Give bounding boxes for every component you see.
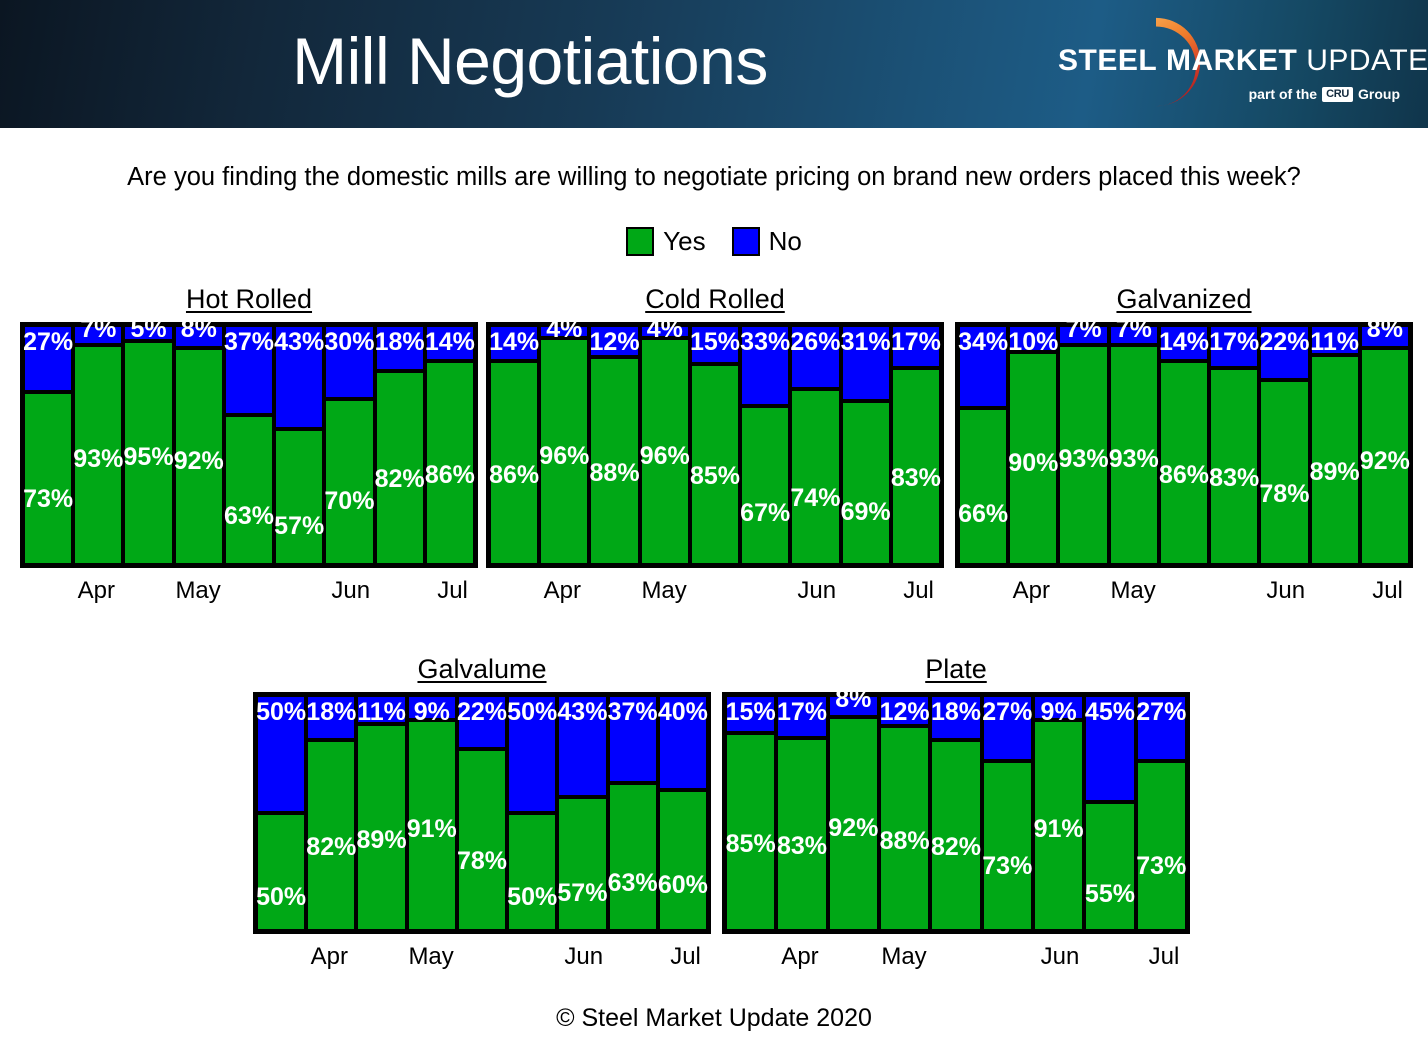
- bar-cold-rolled-1[interactable]: 14%86%: [489, 325, 539, 565]
- plot-area-galvalume: 50%50%18%82%11%89%9%91%22%78%50%50%43%57…: [253, 692, 711, 934]
- segment-yes: 85%: [725, 733, 776, 931]
- segment-no: 9%: [1033, 695, 1084, 720]
- x-tick-galvalume-may: May: [408, 942, 453, 972]
- x-tick-plate-jul: Jul: [1149, 942, 1180, 972]
- x-tick-galvalume-jul: Jul: [670, 942, 701, 972]
- segment-yes-label: 92%: [1360, 448, 1410, 474]
- segment-no-label: 40%: [658, 699, 708, 725]
- bar-galvanized-1[interactable]: 34%66%: [958, 325, 1008, 565]
- chart-panel-plate: Plate15%85%17%83%8%92%12%88%18%82%27%73%…: [722, 692, 1190, 934]
- segment-no: 9%: [407, 695, 457, 720]
- segment-no-label: 50%: [256, 699, 306, 725]
- bar-plate-1[interactable]: 15%85%: [725, 695, 776, 931]
- logo-word-market: MARKET: [1166, 44, 1297, 77]
- bar-hot-rolled-8[interactable]: 18%82%: [375, 325, 425, 565]
- segment-yes-label: 50%: [507, 884, 557, 910]
- segment-no: 27%: [1136, 695, 1187, 761]
- x-axis-plate: AprMayJunJul: [722, 942, 1190, 972]
- segment-no: 11%: [356, 695, 406, 724]
- segment-yes-label: 93%: [1059, 446, 1109, 472]
- segment-no: 27%: [982, 695, 1033, 761]
- segment-yes-label: 93%: [73, 446, 123, 472]
- segment-yes: 86%: [489, 361, 539, 565]
- header-banner: Mill Negotiations STEEL MARKET UPDATE pa…: [0, 0, 1428, 128]
- bar-galvalume-9[interactable]: 40%60%: [658, 695, 708, 931]
- bar-galvanized-9[interactable]: 8%92%: [1360, 325, 1410, 565]
- segment-no: 17%: [891, 325, 941, 368]
- bar-cold-rolled-3[interactable]: 12%88%: [589, 325, 639, 565]
- logo-word-update: UPDATE: [1306, 44, 1428, 77]
- segment-yes-label: 90%: [1008, 450, 1058, 476]
- bar-cold-rolled-9[interactable]: 17%83%: [891, 325, 941, 565]
- bar-galvalume-3[interactable]: 11%89%: [356, 695, 406, 931]
- panel-title-galvalume: Galvalume: [253, 654, 711, 685]
- segment-no-label: 12%: [880, 699, 930, 725]
- panel-title-hot-rolled: Hot Rolled: [20, 284, 478, 315]
- segment-yes: 89%: [1310, 355, 1360, 565]
- segment-yes-label: 63%: [608, 870, 658, 896]
- bar-galvanized-7[interactable]: 22%78%: [1259, 325, 1309, 565]
- segment-yes-label: 91%: [1034, 816, 1084, 842]
- legend-item-yes[interactable]: Yes: [626, 226, 705, 256]
- segment-no: 22%: [1259, 325, 1309, 380]
- segment-yes: 70%: [324, 399, 374, 565]
- segment-yes: 83%: [1209, 368, 1259, 565]
- x-tick-galvalume-apr: Apr: [311, 942, 348, 972]
- x-axis-hot-rolled: AprMayJunJul: [20, 576, 478, 606]
- segment-no: 45%: [1084, 695, 1135, 802]
- segment-no-label: 17%: [1209, 329, 1259, 355]
- segment-no-label: 17%: [777, 699, 827, 725]
- segment-yes: 73%: [1136, 761, 1187, 931]
- bar-cold-rolled-8[interactable]: 31%69%: [841, 325, 891, 565]
- segment-yes-label: 83%: [1209, 465, 1259, 491]
- segment-yes-label: 50%: [256, 884, 306, 910]
- bar-galvanized-6[interactable]: 17%83%: [1209, 325, 1259, 565]
- x-tick-cold-rolled-may: May: [641, 576, 686, 606]
- segment-yes-label: 86%: [425, 462, 475, 488]
- segment-yes-label: 82%: [306, 834, 356, 860]
- bar-hot-rolled-2[interactable]: 7%93%: [73, 325, 123, 565]
- question-text: Are you finding the domestic mills are w…: [0, 163, 1428, 192]
- segment-yes: 57%: [557, 797, 607, 931]
- segment-yes: 60%: [658, 790, 708, 931]
- segment-yes: 88%: [589, 357, 639, 565]
- segment-no-label: 8%: [1367, 316, 1403, 342]
- segment-no: 15%: [725, 695, 776, 733]
- segment-yes: 83%: [891, 368, 941, 565]
- segment-yes-label: 60%: [658, 872, 708, 898]
- x-tick-hot-rolled-jul: Jul: [437, 576, 468, 606]
- bar-cold-rolled-4[interactable]: 4%96%: [640, 325, 690, 565]
- logo-tagline-suffix: Group: [1358, 86, 1400, 102]
- segment-no: 8%: [1360, 325, 1410, 348]
- segment-yes: 96%: [640, 338, 690, 565]
- bar-galvalume-4[interactable]: 9%91%: [407, 695, 457, 931]
- segment-no-label: 27%: [982, 699, 1032, 725]
- x-axis-cold-rolled: AprMayJunJul: [486, 576, 944, 606]
- segment-no-label: 17%: [891, 329, 941, 355]
- copyright-text: © Steel Market Update 2020: [0, 1004, 1428, 1033]
- segment-yes-label: 93%: [1109, 446, 1159, 472]
- segment-no: 30%: [324, 325, 374, 399]
- segment-yes-label: 73%: [1136, 853, 1186, 879]
- bar-galvanized-4[interactable]: 7%93%: [1109, 325, 1159, 565]
- segment-no-label: 7%: [1116, 316, 1152, 342]
- segment-no-label: 15%: [690, 329, 740, 355]
- segment-no: 4%: [539, 325, 589, 338]
- segment-no-label: 14%: [1159, 329, 1209, 355]
- bar-hot-rolled-3[interactable]: 5%95%: [123, 325, 173, 565]
- segment-yes-label: 86%: [489, 462, 539, 488]
- segment-no-label: 8%: [835, 686, 871, 712]
- segment-no: 50%: [256, 695, 306, 813]
- segment-yes-label: 92%: [174, 448, 224, 474]
- segment-yes: 96%: [539, 338, 589, 565]
- x-tick-galvanized-jul: Jul: [1372, 576, 1403, 606]
- x-tick-hot-rolled-may: May: [175, 576, 220, 606]
- legend-swatch-yes: [626, 227, 654, 256]
- segment-yes-label: 57%: [557, 880, 607, 906]
- segment-yes: 78%: [1259, 380, 1309, 565]
- legend-swatch-no: [732, 227, 760, 256]
- segment-yes-label: 73%: [982, 853, 1032, 879]
- segment-yes: 92%: [828, 717, 879, 931]
- segment-no: 15%: [690, 325, 740, 364]
- segment-no: 33%: [740, 325, 790, 406]
- chart-panel-galvanized: Galvanized34%66%10%90%7%93%7%93%14%86%17…: [955, 322, 1413, 568]
- segment-yes: 82%: [930, 740, 981, 931]
- bar-galvanized-5[interactable]: 14%86%: [1159, 325, 1209, 565]
- segment-yes-label: 78%: [457, 848, 507, 874]
- page-title: Mill Negotiations: [0, 14, 1060, 108]
- segment-no-label: 37%: [224, 329, 274, 355]
- segment-no: 12%: [589, 325, 639, 357]
- segment-yes: 93%: [73, 345, 123, 565]
- segment-yes: 91%: [1033, 720, 1084, 931]
- x-tick-plate-may: May: [881, 942, 926, 972]
- segment-no: 18%: [375, 325, 425, 371]
- segment-yes-label: 86%: [1159, 462, 1209, 488]
- segment-no: 14%: [1159, 325, 1209, 361]
- bar-hot-rolled-1[interactable]: 27%73%: [23, 325, 73, 565]
- chart-panel-cold-rolled: Cold Rolled14%86%4%96%12%88%4%96%15%85%3…: [486, 322, 944, 568]
- segment-no: 43%: [557, 695, 607, 797]
- segment-yes-label: 73%: [23, 486, 73, 512]
- segment-no-label: 8%: [181, 316, 217, 342]
- x-tick-plate-jun: Jun: [1041, 942, 1080, 972]
- segment-no: 7%: [1058, 325, 1108, 345]
- segment-yes-label: 96%: [539, 443, 589, 469]
- segment-yes-label: 92%: [828, 815, 878, 841]
- cru-badge: CRU: [1322, 87, 1353, 102]
- bar-galvanized-8[interactable]: 11%89%: [1310, 325, 1360, 565]
- bar-galvalume-5[interactable]: 22%78%: [457, 695, 507, 931]
- segment-yes: 63%: [608, 783, 658, 931]
- segment-no: 5%: [123, 325, 173, 341]
- panel-title-cold-rolled: Cold Rolled: [486, 284, 944, 315]
- bar-plate-4[interactable]: 12%88%: [879, 695, 930, 931]
- x-tick-galvanized-apr: Apr: [1013, 576, 1050, 606]
- segment-no-label: 43%: [557, 699, 607, 725]
- segment-yes: 85%: [690, 364, 740, 565]
- segment-yes: 89%: [356, 724, 406, 931]
- segment-no: 50%: [507, 695, 557, 813]
- segment-yes-label: 83%: [891, 465, 941, 491]
- segment-no: 4%: [640, 325, 690, 338]
- segment-no-label: 22%: [457, 699, 507, 725]
- segment-yes-label: 55%: [1085, 881, 1135, 907]
- segment-no: 18%: [306, 695, 356, 740]
- segment-yes-label: 74%: [790, 485, 840, 511]
- logo-tagline-prefix: part of the: [1249, 86, 1317, 102]
- segment-yes-label: 89%: [1310, 459, 1360, 485]
- segment-no-label: 27%: [23, 329, 73, 355]
- plot-area-galvanized: 34%66%10%90%7%93%7%93%14%86%17%83%22%78%…: [955, 322, 1413, 568]
- bar-plate-9[interactable]: 27%73%: [1136, 695, 1187, 931]
- x-tick-cold-rolled-apr: Apr: [544, 576, 581, 606]
- bar-hot-rolled-7[interactable]: 30%70%: [324, 325, 374, 565]
- x-tick-plate-apr: Apr: [781, 942, 818, 972]
- segment-yes: 55%: [1084, 802, 1135, 931]
- segment-yes: 73%: [23, 392, 73, 565]
- segment-no: 14%: [425, 325, 475, 361]
- segment-no: 17%: [1209, 325, 1259, 368]
- bar-cold-rolled-6[interactable]: 33%67%: [740, 325, 790, 565]
- segment-no-label: 18%: [306, 699, 356, 725]
- segment-yes-label: 66%: [958, 501, 1008, 527]
- segment-no-label: 15%: [726, 699, 776, 725]
- legend-item-no[interactable]: No: [732, 226, 802, 256]
- chart-panel-galvalume: Galvalume50%50%18%82%11%89%9%91%22%78%50…: [253, 692, 711, 934]
- segment-yes-label: 57%: [274, 513, 324, 539]
- bar-galvalume-2[interactable]: 18%82%: [306, 695, 356, 931]
- segment-no: 27%: [23, 325, 73, 392]
- bar-plate-8[interactable]: 45%55%: [1084, 695, 1135, 931]
- bar-plate-2[interactable]: 17%83%: [776, 695, 827, 931]
- segment-yes: 50%: [507, 813, 557, 931]
- segment-no-label: 7%: [1065, 316, 1101, 342]
- segment-no: 37%: [224, 325, 274, 415]
- plot-area-plate: 15%85%17%83%8%92%12%88%18%82%27%73%9%91%…: [722, 692, 1190, 934]
- segment-no-label: 45%: [1085, 699, 1135, 725]
- segment-no-label: 18%: [375, 329, 425, 355]
- legend-label-no: No: [769, 226, 802, 256]
- segment-no: 37%: [608, 695, 658, 783]
- bar-cold-rolled-2[interactable]: 4%96%: [539, 325, 589, 565]
- segment-yes: 88%: [879, 726, 930, 931]
- segment-no: 8%: [174, 325, 224, 348]
- segment-yes: 82%: [375, 371, 425, 565]
- logo-tagline: part of the CRU Group: [1249, 86, 1400, 102]
- segment-no-label: 12%: [590, 329, 640, 355]
- segment-yes: 90%: [1008, 352, 1058, 565]
- bar-plate-7[interactable]: 9%91%: [1033, 695, 1084, 931]
- x-tick-hot-rolled-apr: Apr: [78, 576, 115, 606]
- segment-yes: 86%: [1159, 361, 1209, 565]
- segment-no-label: 33%: [740, 329, 790, 355]
- bar-plate-6[interactable]: 27%73%: [982, 695, 1033, 931]
- x-axis-galvanized: AprMayJunJul: [955, 576, 1413, 606]
- segment-no-label: 14%: [425, 329, 475, 355]
- segment-no: 40%: [658, 695, 708, 790]
- x-tick-hot-rolled-jun: Jun: [331, 576, 370, 606]
- logo-word-steel: STEEL: [1058, 44, 1157, 77]
- segment-no-label: 10%: [1008, 329, 1058, 355]
- plot-area-cold-rolled: 14%86%4%96%12%88%4%96%15%85%33%67%26%74%…: [486, 322, 944, 568]
- legend-label-yes: Yes: [663, 226, 705, 256]
- segment-no-label: 7%: [80, 316, 116, 342]
- segment-no: 14%: [489, 325, 539, 361]
- segment-no-label: 18%: [931, 699, 981, 725]
- x-tick-galvanized-may: May: [1110, 576, 1155, 606]
- segment-yes-label: 85%: [726, 831, 776, 857]
- segment-yes-label: 88%: [880, 828, 930, 854]
- bar-plate-5[interactable]: 18%82%: [930, 695, 981, 931]
- bar-hot-rolled-4[interactable]: 8%92%: [174, 325, 224, 565]
- segment-yes: 86%: [425, 361, 475, 565]
- segment-yes-label: 67%: [740, 500, 790, 526]
- segment-yes: 93%: [1058, 345, 1108, 565]
- segment-no-label: 11%: [357, 699, 406, 725]
- x-tick-galvanized-jun: Jun: [1266, 576, 1305, 606]
- bar-hot-rolled-6[interactable]: 43%57%: [274, 325, 324, 565]
- chart-legend: YesNo: [0, 226, 1428, 256]
- plot-area-hot-rolled: 27%73%7%93%5%95%8%92%37%63%43%57%30%70%1…: [20, 322, 478, 568]
- segment-yes-label: 88%: [590, 460, 640, 486]
- segment-yes-label: 82%: [931, 834, 981, 860]
- segment-yes: 91%: [407, 720, 457, 931]
- bar-galvanized-2[interactable]: 10%90%: [1008, 325, 1058, 565]
- segment-yes-label: 70%: [324, 488, 374, 514]
- segment-yes-label: 69%: [841, 499, 891, 525]
- bar-hot-rolled-9[interactable]: 14%86%: [425, 325, 475, 565]
- panel-title-plate: Plate: [722, 654, 1190, 685]
- segment-yes: 57%: [274, 429, 324, 565]
- segment-no-label: 14%: [489, 329, 539, 355]
- segment-no-label: 43%: [274, 329, 324, 355]
- segment-no-label: 27%: [1136, 699, 1186, 725]
- segment-yes-label: 83%: [777, 833, 827, 859]
- x-tick-cold-rolled-jun: Jun: [797, 576, 836, 606]
- segment-yes: 93%: [1109, 345, 1159, 565]
- logo-wordmark: STEEL MARKET UPDATE: [1058, 44, 1402, 78]
- segment-yes-label: 78%: [1259, 481, 1309, 507]
- segment-no: 31%: [841, 325, 891, 401]
- segment-yes: 50%: [256, 813, 306, 931]
- segment-yes: 95%: [123, 341, 173, 565]
- bar-galvalume-1[interactable]: 50%50%: [256, 695, 306, 931]
- segment-no-label: 22%: [1259, 329, 1309, 355]
- segment-yes: 92%: [1360, 348, 1410, 565]
- brand-logo: STEEL MARKET UPDATE part of the CRU Grou…: [1052, 12, 1402, 116]
- bar-cold-rolled-7[interactable]: 26%74%: [790, 325, 840, 565]
- panel-title-galvanized: Galvanized: [955, 284, 1413, 315]
- segment-yes-label: 95%: [124, 444, 174, 470]
- segment-yes-label: 96%: [640, 443, 690, 469]
- segment-yes: 67%: [740, 406, 790, 565]
- bar-galvalume-6[interactable]: 50%50%: [507, 695, 557, 931]
- segment-no-label: 37%: [608, 699, 658, 725]
- segment-no: 22%: [457, 695, 507, 749]
- bar-plate-3[interactable]: 8%92%: [828, 695, 879, 931]
- segment-yes: 63%: [224, 415, 274, 565]
- segment-no: 7%: [73, 325, 123, 345]
- segment-no: 10%: [1008, 325, 1058, 352]
- bar-cold-rolled-5[interactable]: 15%85%: [690, 325, 740, 565]
- segment-no: 8%: [828, 695, 879, 717]
- segment-no: 26%: [790, 325, 840, 389]
- bar-hot-rolled-5[interactable]: 37%63%: [224, 325, 274, 565]
- segment-yes: 92%: [174, 348, 224, 565]
- segment-no-label: 34%: [958, 329, 1008, 355]
- segment-yes-label: 63%: [224, 503, 274, 529]
- x-tick-cold-rolled-jul: Jul: [903, 576, 934, 606]
- segment-no: 43%: [274, 325, 324, 429]
- bar-galvanized-3[interactable]: 7%93%: [1058, 325, 1108, 565]
- segment-no: 17%: [776, 695, 827, 738]
- segment-no-label: 31%: [841, 329, 891, 355]
- segment-no: 18%: [930, 695, 981, 740]
- segment-yes: 82%: [306, 740, 356, 931]
- x-tick-galvalume-jun: Jun: [564, 942, 603, 972]
- segment-no-label: 5%: [130, 316, 166, 342]
- bar-galvalume-7[interactable]: 43%57%: [557, 695, 607, 931]
- segment-no: 12%: [879, 695, 930, 726]
- segment-no-label: 26%: [790, 329, 840, 355]
- segment-no: 7%: [1109, 325, 1159, 345]
- segment-no-label: 30%: [324, 329, 374, 355]
- segment-no-label: 50%: [507, 699, 557, 725]
- segment-yes-label: 82%: [375, 466, 425, 492]
- segment-yes: 74%: [790, 389, 840, 565]
- segment-no: 34%: [958, 325, 1008, 408]
- chart-panel-hot-rolled: Hot Rolled27%73%7%93%5%95%8%92%37%63%43%…: [20, 322, 478, 568]
- segment-yes: 66%: [958, 408, 1008, 565]
- x-axis-galvalume: AprMayJunJul: [253, 942, 711, 972]
- segment-yes: 73%: [982, 761, 1033, 931]
- bar-galvalume-8[interactable]: 37%63%: [608, 695, 658, 931]
- segment-yes: 83%: [776, 738, 827, 931]
- segment-no: 11%: [1310, 325, 1360, 355]
- segment-no-label: 11%: [1310, 329, 1359, 355]
- segment-yes: 78%: [457, 749, 507, 931]
- segment-yes-label: 85%: [690, 463, 740, 489]
- segment-yes-label: 89%: [357, 827, 407, 853]
- segment-yes: 69%: [841, 401, 891, 565]
- segment-yes-label: 91%: [407, 816, 457, 842]
